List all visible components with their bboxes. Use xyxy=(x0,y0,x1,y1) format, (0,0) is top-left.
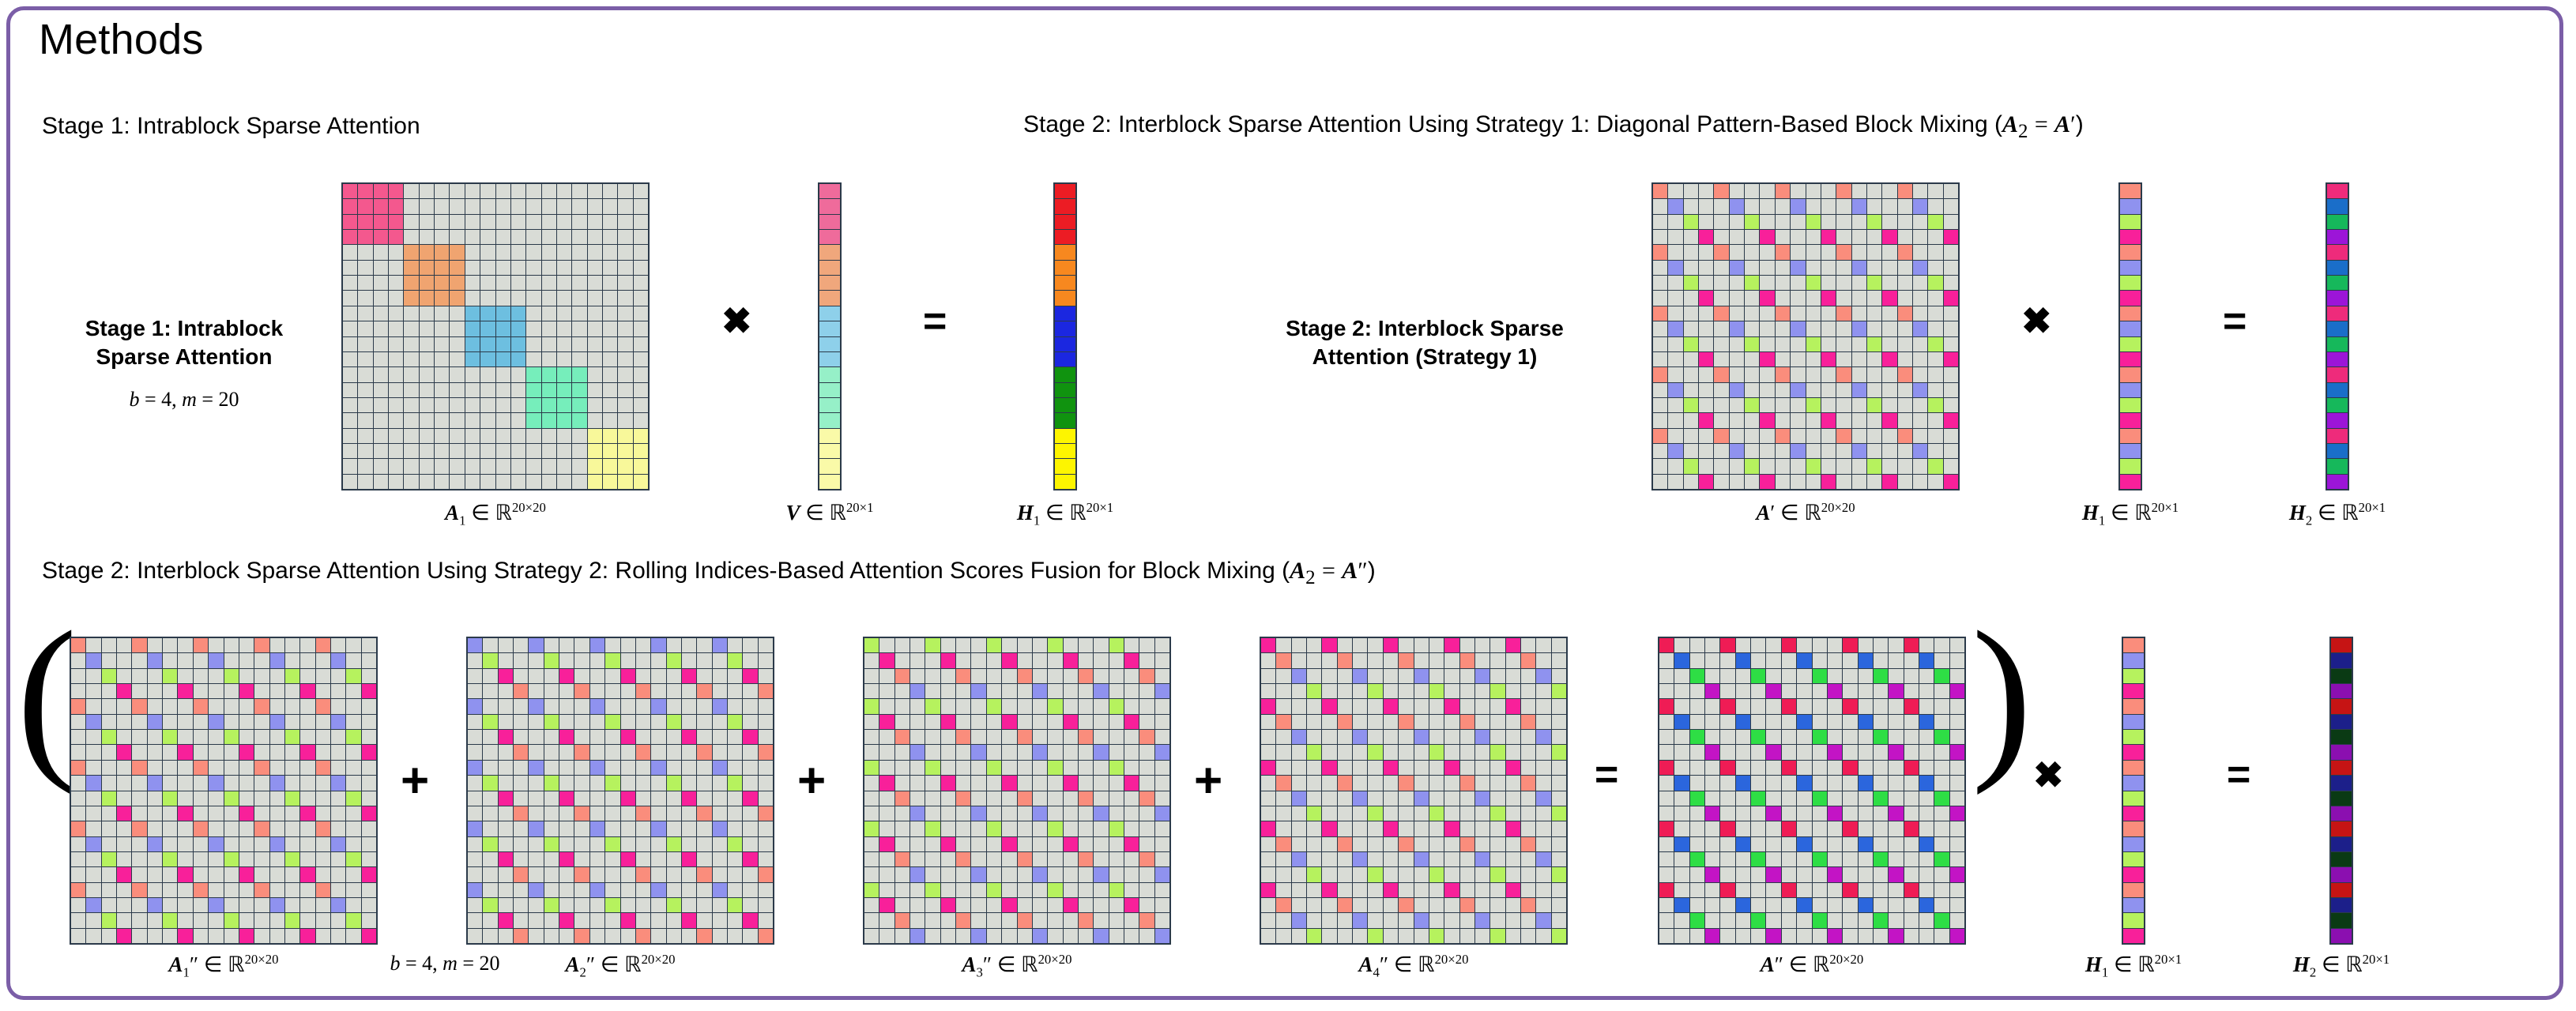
matrix-cell xyxy=(1843,761,1857,775)
matrix-cell xyxy=(1155,913,1169,927)
matrix-cell xyxy=(1048,867,1062,881)
matrix-cell xyxy=(759,806,773,821)
matrix-cell xyxy=(468,898,482,912)
matrix-cell xyxy=(1944,459,1958,473)
matrix-cell xyxy=(879,898,894,912)
matrix-cell xyxy=(618,337,632,351)
matrix-cell xyxy=(1776,276,1790,290)
matrix-cell xyxy=(1506,867,1520,881)
matrix-cell xyxy=(634,398,648,412)
matrix-cell xyxy=(468,929,482,943)
matrix-cell xyxy=(1399,791,1413,806)
matrix-cell xyxy=(1033,852,1047,866)
matrix-cell xyxy=(404,306,418,321)
matrix-cell xyxy=(588,276,602,290)
matrix-cell xyxy=(697,867,711,881)
matrix-cell xyxy=(1155,715,1169,729)
matrix-cell xyxy=(1904,653,1919,667)
matrix-cell xyxy=(1705,806,1719,821)
matrix-cell xyxy=(1338,837,1352,851)
matrix-cell xyxy=(1776,444,1790,458)
matrix-cell xyxy=(1276,776,1290,790)
matrix-cell xyxy=(1836,321,1851,336)
matrix-cell xyxy=(1292,745,1306,759)
matrix-cell xyxy=(468,715,482,729)
matrix-cell xyxy=(404,383,418,397)
matrix-cell xyxy=(1791,261,1805,275)
matrix-cell xyxy=(1033,669,1047,683)
matrix-cell xyxy=(1353,806,1367,821)
matrix-cell xyxy=(1155,730,1169,744)
matrix-cell xyxy=(574,898,589,912)
matrix-cell xyxy=(1414,852,1429,866)
matrix-cell xyxy=(634,367,648,381)
vector-cell xyxy=(2120,383,2141,397)
matrix-cell xyxy=(1048,684,1062,698)
matrix-cell xyxy=(925,837,940,851)
matrix-cell xyxy=(178,730,192,744)
matrix-cell xyxy=(1828,745,1842,759)
matrix-cell xyxy=(374,429,388,443)
matrix-cell xyxy=(621,730,635,744)
matrix-cell xyxy=(1791,444,1805,458)
matrix-cell xyxy=(1821,413,1836,427)
matrix-cell xyxy=(1384,852,1398,866)
matrix-cell xyxy=(1307,776,1321,790)
matrix-cell xyxy=(1889,776,1903,790)
matrix-cell xyxy=(557,306,571,321)
matrix-cell xyxy=(316,791,330,806)
matrix-cell xyxy=(71,761,85,775)
matrix-cell xyxy=(209,852,223,866)
matrix-cell xyxy=(1882,245,1896,259)
matrix-cell xyxy=(480,230,495,244)
matrix-cell xyxy=(404,413,418,427)
matrix-cell xyxy=(1064,883,1078,897)
matrix-cell xyxy=(389,184,403,198)
matrix-cell xyxy=(1867,306,1881,321)
matrix-cell xyxy=(374,306,388,321)
matrix-cell xyxy=(1720,761,1734,775)
matrix-cell xyxy=(86,837,100,851)
matrix-cell xyxy=(1002,684,1016,698)
matrix-cell xyxy=(1353,837,1367,851)
matrix-cell xyxy=(404,230,418,244)
matrix-cell xyxy=(605,867,620,881)
matrix-cell xyxy=(194,730,208,744)
matrix-cell xyxy=(590,806,604,821)
matrix-cell xyxy=(1928,459,1942,473)
matrix-cell xyxy=(343,429,357,443)
matrix-cell xyxy=(728,730,742,744)
matrix-cell xyxy=(1079,715,1093,729)
matrix-cell xyxy=(1444,898,1459,912)
matrix-cell xyxy=(1745,429,1759,443)
matrix-cell xyxy=(511,306,525,321)
matrix-cell xyxy=(178,821,192,836)
matrix-cell xyxy=(285,837,299,851)
matrix-cell xyxy=(559,898,574,912)
matrix-cell xyxy=(1806,383,1821,397)
matrix-cell xyxy=(483,699,497,713)
matrix-cell xyxy=(102,761,116,775)
matrix-cell xyxy=(1852,215,1866,229)
matrix-cell xyxy=(1928,475,1942,489)
matrix-cell xyxy=(1730,429,1744,443)
matrix-cell xyxy=(1736,852,1750,866)
matrix-cell xyxy=(1653,184,1667,198)
matrix-cell xyxy=(1782,745,1796,759)
matrix-cell xyxy=(1261,715,1275,729)
matrix-cell xyxy=(1033,837,1047,851)
matrix-cell xyxy=(132,715,146,729)
matrix-cell xyxy=(1307,883,1321,897)
matrix-cell xyxy=(1659,898,1674,912)
matrix-cell xyxy=(331,761,345,775)
matrix-cell xyxy=(1690,745,1704,759)
matrix-cell xyxy=(879,929,894,943)
stage2s1-equals-symbol: = xyxy=(2223,301,2246,342)
matrix-cell xyxy=(148,761,162,775)
matrix-cell xyxy=(864,638,879,652)
matrix-cell xyxy=(1776,306,1790,321)
matrix-cell xyxy=(667,715,681,729)
matrix-app-3 xyxy=(863,637,1171,945)
matrix-cell xyxy=(590,761,604,775)
plus-symbol-2: + xyxy=(797,757,826,806)
matrix-cell xyxy=(621,761,635,775)
matrix-cell xyxy=(910,806,925,821)
matrix-cell xyxy=(1292,730,1306,744)
matrix-cell xyxy=(544,837,559,851)
matrix-cell xyxy=(1322,776,1336,790)
matrix-cell xyxy=(1745,199,1759,213)
matrix-cell xyxy=(358,337,372,351)
matrix-cell xyxy=(480,184,495,198)
matrix-cell xyxy=(529,653,543,667)
vector-cell xyxy=(1055,398,1075,412)
matrix-cell xyxy=(1950,852,1964,866)
matrix-cell xyxy=(1307,761,1321,775)
matrix-cell xyxy=(499,699,513,713)
matrix-cell xyxy=(697,852,711,866)
matrix-cell xyxy=(1934,653,1949,667)
matrix-cell xyxy=(1261,730,1275,744)
matrix-cell xyxy=(743,638,757,652)
matrix-cell xyxy=(1745,337,1759,351)
matrix-cell xyxy=(1384,638,1398,652)
matrix-cell xyxy=(542,444,556,458)
matrix-cell xyxy=(102,867,116,881)
matrix-cell xyxy=(618,367,632,381)
matrix-cell xyxy=(1882,398,1896,412)
matrix-cell xyxy=(1292,837,1306,851)
matrix-cell xyxy=(743,913,757,927)
matrix-cell xyxy=(1124,852,1139,866)
matrix-cell xyxy=(526,245,540,259)
matrix-cell xyxy=(590,821,604,836)
matrix-cell xyxy=(1782,837,1796,851)
matrix-cell xyxy=(1018,929,1032,943)
matrix-cell xyxy=(1490,745,1505,759)
matrix-cell xyxy=(1261,776,1275,790)
matrix-cell xyxy=(1867,383,1881,397)
matrix-cell xyxy=(1552,638,1566,652)
matrix-cell xyxy=(209,898,223,912)
matrix-cell xyxy=(285,638,299,652)
matrix-cell xyxy=(526,367,540,381)
matrix-cell xyxy=(1867,199,1881,213)
matrix-cell xyxy=(1776,321,1790,336)
matrix-cell xyxy=(1653,352,1667,366)
matrix-cell xyxy=(1399,638,1413,652)
matrix-cell xyxy=(1276,745,1290,759)
matrix-cell xyxy=(117,852,131,866)
matrix-cell xyxy=(1776,215,1790,229)
matrix-cell xyxy=(1766,776,1780,790)
matrix-cell xyxy=(483,761,497,775)
matrix-cell xyxy=(559,776,574,790)
matrix-cell xyxy=(1751,837,1765,851)
matrix-cell xyxy=(1414,669,1429,683)
matrix-cell xyxy=(224,699,239,713)
matrix-cell xyxy=(1338,699,1352,713)
matrix-cell xyxy=(634,383,648,397)
matrix-cell xyxy=(1668,230,1682,244)
matrix-cell xyxy=(941,837,955,851)
matrix-cell xyxy=(465,261,480,275)
matrix-cell xyxy=(435,245,449,259)
matrix-cell xyxy=(1002,929,1016,943)
matrix-cell xyxy=(1867,291,1881,305)
matrix-cell xyxy=(759,638,773,652)
matrix-cell xyxy=(1552,715,1566,729)
matrix-cell xyxy=(1384,699,1398,713)
matrix-cell xyxy=(1705,852,1719,866)
matrix-cell xyxy=(1852,413,1866,427)
matrix-cell xyxy=(743,821,757,836)
matrix-cell xyxy=(1766,761,1780,775)
matrix-cell xyxy=(1668,383,1682,397)
matrix-cell xyxy=(987,745,1001,759)
vector-cell xyxy=(1055,475,1075,489)
matrix-cell xyxy=(1882,383,1896,397)
matrix-cell xyxy=(1353,791,1367,806)
matrix-cell xyxy=(651,898,665,912)
vector-cell xyxy=(1055,291,1075,305)
matrix-cell xyxy=(1882,429,1896,443)
matrix-cell xyxy=(1843,929,1857,943)
matrix-cell xyxy=(605,669,620,683)
matrix-cell xyxy=(1399,669,1413,683)
vector-cell xyxy=(2123,730,2144,744)
matrix-cell xyxy=(1782,852,1796,866)
matrix-cell xyxy=(971,929,985,943)
matrix-cell xyxy=(925,883,940,897)
matrix-cell xyxy=(1399,761,1413,775)
matrix-cell xyxy=(1276,837,1290,851)
matrix-cell xyxy=(435,337,449,351)
matrix-cell xyxy=(1782,806,1796,821)
matrix-cell xyxy=(1836,352,1851,366)
matrix-cell xyxy=(209,730,223,744)
matrix-cell xyxy=(1429,883,1444,897)
matrix-cell xyxy=(1659,821,1674,836)
matrix-cell xyxy=(1444,821,1459,836)
matrix-cell xyxy=(1536,669,1550,683)
matrix-cell xyxy=(1506,638,1520,652)
matrix-cell xyxy=(1928,413,1942,427)
matrix-cell xyxy=(1852,199,1866,213)
matrix-cell xyxy=(1859,837,1873,851)
matrix-cell xyxy=(239,837,254,851)
matrix-cell xyxy=(651,699,665,713)
matrix-cell xyxy=(499,669,513,683)
matrix-cell xyxy=(621,699,635,713)
matrix-cell xyxy=(1797,653,1811,667)
matrix-cell xyxy=(404,475,418,489)
matrix-cell xyxy=(1048,745,1062,759)
matrix-cell xyxy=(1429,684,1444,698)
matrix-cell xyxy=(1552,761,1566,775)
matrix-cell xyxy=(1934,715,1949,729)
matrix-cell xyxy=(1536,806,1550,821)
matrix-cell xyxy=(1874,791,1888,806)
matrix-cell xyxy=(1730,276,1744,290)
matrix-cell xyxy=(1384,806,1398,821)
matrix-cell xyxy=(1913,199,1927,213)
matrix-cell xyxy=(1690,715,1704,729)
vector-cell xyxy=(2331,715,2352,729)
matrix-cell xyxy=(1668,429,1682,443)
matrix-cell xyxy=(331,898,345,912)
matrix-cell xyxy=(362,745,376,759)
matrix-cell xyxy=(1018,867,1032,881)
matrix-cell xyxy=(1322,699,1336,713)
matrix-cell xyxy=(1705,883,1719,897)
matrix-cell xyxy=(1109,821,1124,836)
matrix-cell xyxy=(1690,776,1704,790)
matrix-cell xyxy=(1882,475,1896,489)
matrix-cell xyxy=(511,230,525,244)
matrix-cell xyxy=(1536,837,1550,851)
matrix-cell xyxy=(1950,745,1964,759)
matrix-cell xyxy=(224,761,239,775)
matrix-cell xyxy=(864,867,879,881)
matrix-cell xyxy=(1368,653,1382,667)
matrix-cell xyxy=(343,383,357,397)
matrix-cell xyxy=(1674,715,1689,729)
matrix-cell xyxy=(1690,761,1704,775)
matrix-cell xyxy=(956,929,970,943)
matrix-cell xyxy=(450,215,464,229)
matrix-cell xyxy=(682,638,696,652)
matrix-cell xyxy=(358,383,372,397)
matrix-cell xyxy=(1720,745,1734,759)
matrix-cell xyxy=(468,776,482,790)
matrix-cell xyxy=(499,684,513,698)
matrix-cell xyxy=(1766,883,1780,897)
matrix-cell xyxy=(1813,699,1827,713)
matrix-cell xyxy=(1690,898,1704,912)
matrix-cell xyxy=(956,821,970,836)
matrix-cell xyxy=(910,730,925,744)
matrix-cell xyxy=(1828,806,1842,821)
matrix-cell xyxy=(618,230,632,244)
matrix-cell xyxy=(1828,791,1842,806)
matrix-cell xyxy=(1791,230,1805,244)
matrix-cell xyxy=(759,791,773,806)
matrix-cell xyxy=(1828,913,1842,927)
matrix-cell xyxy=(1782,929,1796,943)
matrix-cell xyxy=(618,475,632,489)
matrix-cell xyxy=(1919,638,1934,652)
matrix-cell xyxy=(559,821,574,836)
matrix-cell xyxy=(559,745,574,759)
matrix-cell xyxy=(511,459,525,473)
matrix-cell xyxy=(362,806,376,821)
vector-cell xyxy=(819,306,840,321)
matrix-cell xyxy=(987,684,1001,698)
matrix-cell xyxy=(1674,776,1689,790)
matrix-cell xyxy=(1828,898,1842,912)
matrix-cell xyxy=(1399,821,1413,836)
matrix-cell xyxy=(1353,730,1367,744)
matrix-cell xyxy=(1843,699,1857,713)
matrix-cell xyxy=(759,699,773,713)
matrix-cell xyxy=(1307,669,1321,683)
matrix-cell xyxy=(1882,321,1896,336)
matrix-cell xyxy=(1919,821,1934,836)
matrix-cell xyxy=(1261,898,1275,912)
matrix-cell xyxy=(682,883,696,897)
matrix-cell xyxy=(987,883,1001,897)
matrix-cell xyxy=(1782,791,1796,806)
matrix-cell xyxy=(468,867,482,881)
matrix-cell xyxy=(1882,276,1896,290)
matrix-cell xyxy=(864,898,879,912)
matrix-cell xyxy=(404,184,418,198)
matrix-cell xyxy=(542,429,556,443)
matrix-cell xyxy=(667,883,681,897)
matrix-cell xyxy=(254,684,269,698)
matrix-cell xyxy=(358,230,372,244)
matrix-cell xyxy=(132,821,146,836)
matrix-cell xyxy=(1776,184,1790,198)
matrix-cell xyxy=(682,852,696,866)
matrix-cell xyxy=(574,669,589,683)
matrix-cell xyxy=(300,837,314,851)
matrix-cell xyxy=(636,852,650,866)
matrix-cell xyxy=(499,730,513,744)
matrix-cell xyxy=(343,184,357,198)
matrix-cell xyxy=(1736,898,1750,912)
matrix-cell xyxy=(1002,776,1016,790)
matrix-cell xyxy=(559,761,574,775)
matrix-cell xyxy=(331,806,345,821)
matrix-cell xyxy=(435,444,449,458)
matrix-cell xyxy=(879,715,894,729)
matrix-cell xyxy=(480,321,495,336)
matrix-cell xyxy=(529,852,543,866)
matrix-cell xyxy=(300,776,314,790)
matrix-cell xyxy=(358,429,372,443)
matrix-cell xyxy=(588,429,602,443)
matrix-cell xyxy=(1460,669,1474,683)
matrix-cell xyxy=(1813,821,1827,836)
matrix-cell xyxy=(224,852,239,866)
matrix-cell xyxy=(1460,699,1474,713)
